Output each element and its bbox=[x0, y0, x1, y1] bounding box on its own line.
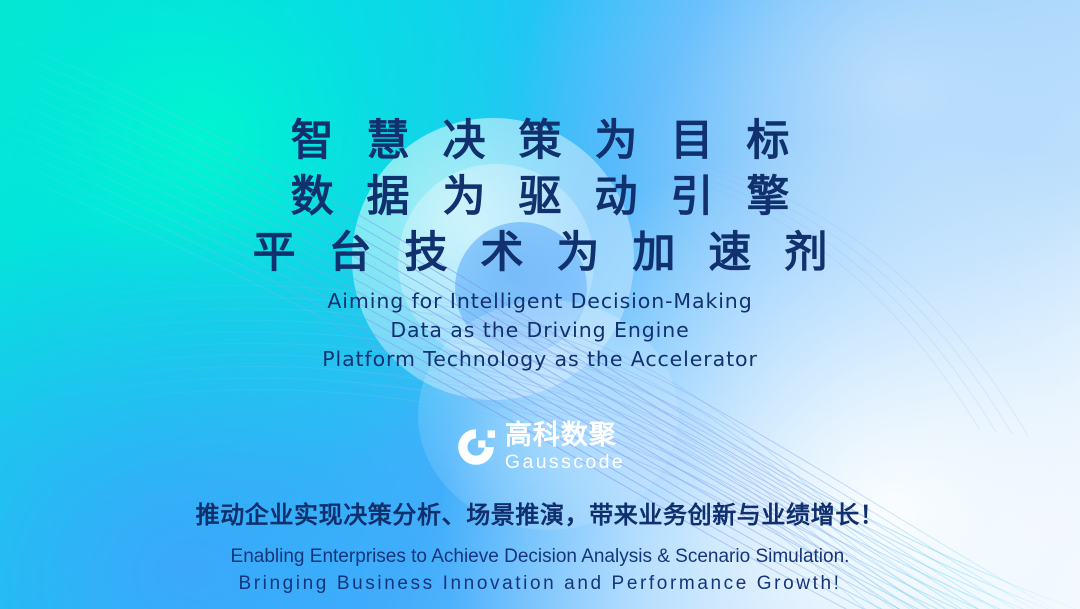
gausscode-ring-mark-icon bbox=[455, 426, 497, 468]
brand-name-cn: 高科数聚 bbox=[505, 422, 617, 449]
brand-wordmark: 高科数聚 Gausscode bbox=[505, 422, 625, 473]
headline-block: 智 慧 决 策 为 目 标 数 据 为 驱 动 引 擎 平 台 技 术 为 加 … bbox=[244, 113, 837, 281]
subheadline-line-1: Aiming for Intelligent Decision-Making bbox=[322, 287, 758, 316]
poster-content: 智 慧 决 策 为 目 标 数 据 为 驱 动 引 擎 平 台 技 术 为 加 … bbox=[0, 0, 1080, 609]
poster-canvas: 智 慧 决 策 为 目 标 数 据 为 驱 动 引 擎 平 台 技 术 为 加 … bbox=[0, 0, 1080, 609]
subheadline-line-2: Data as the Driving Engine bbox=[322, 316, 758, 345]
subheadline-line-3: Platform Technology as the Accelerator bbox=[322, 345, 758, 374]
brand-name-en: Gausscode bbox=[505, 453, 625, 473]
headline-line-3: 平 台 技 术 为 加 速 剂 bbox=[244, 225, 837, 281]
subheadline-block: Aiming for Intelligent Decision-Making D… bbox=[322, 287, 758, 374]
headline-line-1: 智 慧 决 策 为 目 标 bbox=[244, 113, 837, 169]
brand-logo-lockup: 高科数聚 Gausscode bbox=[455, 422, 625, 473]
tagline-english-line-1: Enabling Enterprises to Achieve Decision… bbox=[231, 543, 850, 570]
tagline-english-block: Enabling Enterprises to Achieve Decision… bbox=[231, 543, 850, 597]
tagline-english-line-2: Bringing Business Innovation and Perform… bbox=[231, 570, 850, 597]
headline-line-2: 数 据 为 驱 动 引 擎 bbox=[244, 169, 837, 225]
tagline-chinese: 推动企业实现决策分析、场景推演，带来业务创新与业绩增长！ bbox=[196, 495, 885, 530]
